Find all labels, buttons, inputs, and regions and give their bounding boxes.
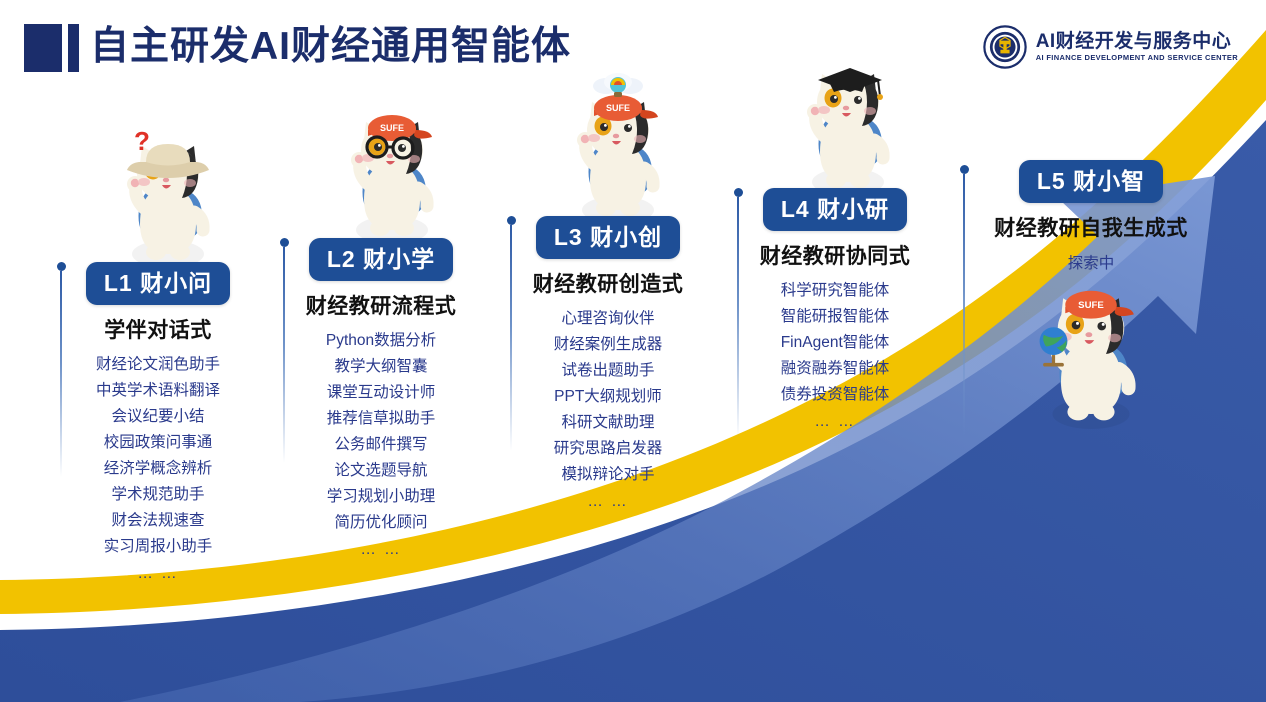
title-accent-block-wide: [24, 24, 62, 72]
list-item[interactable]: 推荐信草拟助手: [327, 409, 436, 428]
list-item[interactable]: 课堂互动设计师: [327, 383, 436, 402]
list-item[interactable]: 校园政策问事通: [104, 433, 213, 452]
list-item[interactable]: 财会法规速查: [111, 511, 204, 530]
list-item[interactable]: 中英学术语料翻译: [96, 381, 220, 400]
list-item[interactable]: 模拟辩论对手: [561, 465, 654, 484]
brand-name-en: AI FINANCE DEVELOPMENT AND SERVICE CENTE…: [1036, 52, 1238, 63]
level-badge-l1[interactable]: L1 财小问: [86, 262, 230, 305]
level-items-l2: Python数据分析 教学大纲智囊 课堂互动设计师 推荐信草拟助手 公务邮件撰写…: [326, 331, 436, 559]
level-column-l3: L3 财小创 财经教研创造式 心理咨询伙伴 财经案例生成器 试卷出题助手 PPT…: [508, 216, 708, 511]
level-subtitle-l1: 学伴对话式: [104, 318, 212, 344]
level-items-l4: 科学研究智能体 智能研报智能体 FinAgent智能体 融资融券智能体 债券投资…: [781, 281, 890, 431]
level-column-l4: L4 财小研 财经教研协同式 科学研究智能体 智能研报智能体 FinAgent智…: [735, 188, 935, 431]
brand-name-cn: AI财经开发与服务中心: [1036, 31, 1238, 52]
level-column-l5: L5 财小智 财经教研自我生成式 探索中: [966, 160, 1216, 429]
level-badge-l3[interactable]: L3 财小创: [536, 216, 680, 259]
list-item[interactable]: 债券投资智能体: [781, 385, 890, 404]
list-item[interactable]: FinAgent智能体: [781, 333, 890, 352]
level-items-l1: 财经论文润色助手 中英学术语料翻译 会议纪要小结 校园政策问事通 经济学概念辨析…: [96, 355, 220, 583]
cat-mascot-idea-bulb-icon: [558, 72, 678, 217]
page-header: 自主研发AI财经通用智能体 AI财经开发与服务中心 AI FINANCE DEV…: [0, 0, 1266, 90]
list-item[interactable]: 智能研报智能体: [781, 307, 890, 326]
level-subtitle-l4: 财经教研协同式: [760, 244, 911, 270]
level-note-l5: 探索中: [1068, 254, 1115, 273]
list-item[interactable]: 教学大纲智囊: [334, 357, 427, 376]
level-column-l1: L1 财小问 学伴对话式 财经论文润色助手 中英学术语料翻译 会议纪要小结 校园…: [58, 262, 258, 583]
brand-logo: AI财经开发与服务中心 AI FINANCE DEVELOPMENT AND S…: [983, 25, 1238, 69]
level-badge-l5[interactable]: L5 财小智: [1019, 160, 1163, 203]
list-item[interactable]: 经济学概念辨析: [104, 459, 213, 478]
level-subtitle-l3: 财经教研创造式: [533, 272, 684, 298]
cat-mascot-question-icon: ?: [108, 128, 228, 268]
list-more-indicator: … …: [814, 412, 855, 431]
level-badge-l4[interactable]: L4 财小研: [763, 188, 907, 231]
list-item[interactable]: 公务邮件撰写: [334, 435, 427, 454]
list-item[interactable]: 财经案例生成器: [554, 335, 663, 354]
level-subtitle-l2: 财经教研流程式: [306, 294, 457, 320]
list-more-indicator: … …: [137, 564, 178, 583]
list-item[interactable]: PPT大纲规划师: [554, 387, 662, 406]
list-item[interactable]: 学术规范助手: [111, 485, 204, 504]
level-subtitle-l5: 财经教研自我生成式: [994, 216, 1188, 242]
list-item[interactable]: 实习周报小助手: [104, 537, 213, 556]
brand-text: AI财经开发与服务中心 AI FINANCE DEVELOPMENT AND S…: [1036, 31, 1238, 63]
list-item[interactable]: 科研文献助理: [561, 413, 654, 432]
university-seal-icon: [983, 25, 1027, 69]
level-column-l2: L2 财小学 财经教研流程式 Python数据分析 教学大纲智囊 课堂互动设计师…: [281, 238, 481, 559]
list-item[interactable]: 融资融券智能体: [781, 359, 890, 378]
list-item[interactable]: 试卷出题助手: [561, 361, 654, 380]
list-item[interactable]: 简历优化顾问: [334, 513, 427, 532]
list-item[interactable]: 财经论文润色助手: [96, 355, 220, 374]
svg-text:?: ?: [134, 128, 150, 156]
list-item[interactable]: 会议纪要小结: [111, 407, 204, 426]
list-item[interactable]: 心理咨询伙伴: [561, 309, 654, 328]
list-item[interactable]: Python数据分析: [326, 331, 436, 350]
title-accent-block-narrow: [68, 24, 79, 72]
list-more-indicator: … …: [360, 540, 401, 559]
level-badge-l2[interactable]: L2 财小学: [309, 238, 453, 281]
list-item[interactable]: 学习规划小助理: [327, 487, 436, 506]
page-title: 自主研发AI财经通用智能体: [90, 18, 571, 76]
list-more-indicator: … …: [587, 492, 628, 511]
level-items-l3: 心理咨询伙伴 财经案例生成器 试卷出题助手 PPT大纲规划师 科研文献助理 研究…: [554, 309, 663, 511]
list-item[interactable]: 科学研究智能体: [781, 281, 890, 300]
list-item[interactable]: 论文选题导航: [334, 461, 427, 480]
connector-stem: [963, 174, 965, 435]
cat-mascot-globe-icon: [1026, 279, 1156, 429]
list-item[interactable]: 研究思路启发器: [554, 439, 663, 458]
cat-mascot-glasses-icon: [332, 104, 452, 244]
